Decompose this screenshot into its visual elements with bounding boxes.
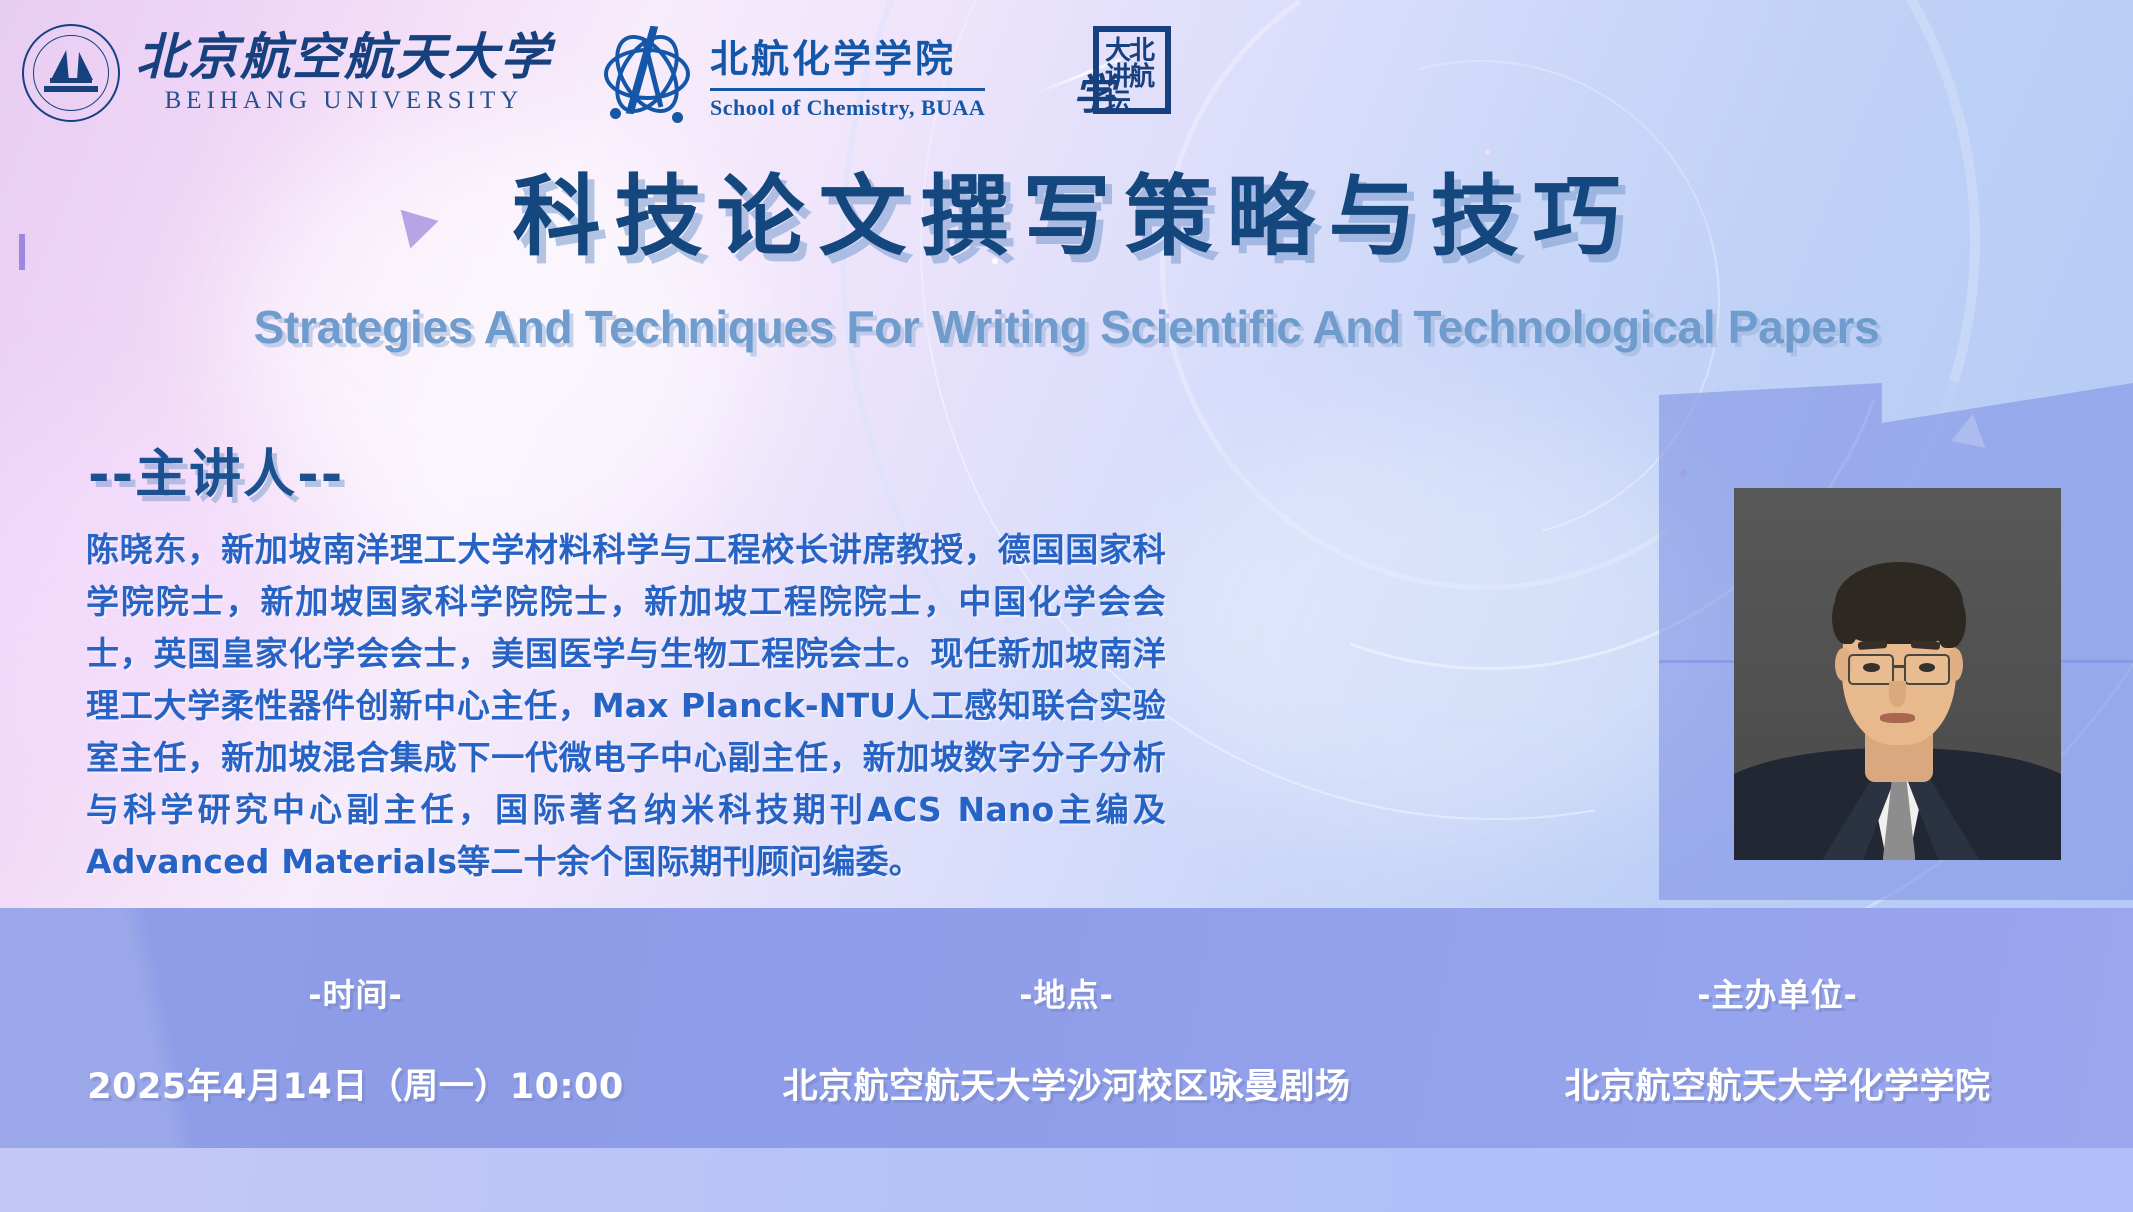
info-column-time: -时间- 2025年4月14日（周一）10:00 [0,908,711,1148]
info-label-organizer: -主办单位- [1422,970,2133,1016]
speaker-bio-text: 陈晓东，新加坡南洋理工大学材料科学与工程校长讲席教授，德国国家科学院院士，新加坡… [86,524,1166,888]
chemistry-atom-icon [600,24,696,124]
info-label-time: -时间- [0,970,711,1016]
info-value-organizer: 北京航空航天大学化学学院 [1422,1058,2133,1109]
info-value-location: 北京航空航天大学沙河校区咏曼剧场 [711,1058,1422,1109]
info-label-location: -地点- [711,970,1422,1016]
info-columns: -时间- 2025年4月14日（周一）10:00 -地点- 北京航空航天大学沙河… [0,908,2133,1148]
logo-shahe-forum-stamp: 大北讲航坛 学 [1073,26,1171,118]
logo-chemistry-cn: 北航化学学院 [710,28,985,83]
logo-chemistry-en: School of Chemistry, BUAA [710,95,985,121]
stamp-brush-text: 学 [1073,74,1115,116]
logo-beihang-cn: 北京航空航天大学 [136,31,552,84]
info-column-location: -地点- 北京航空航天大学沙河校区咏曼剧场 [711,908,1422,1148]
speaker-portrait [1734,488,2061,860]
page-subtitle: Strategies And Techniques For Writing Sc… [0,300,2133,354]
logo-chemistry-divider [710,88,985,91]
beihang-seal-icon [22,24,120,122]
info-value-time: 2025年4月14日（周一）10:00 [0,1058,711,1109]
logo-beihang-university: 北京航空航天大学 BEIHANG UNIVERSITY [22,24,552,122]
logo-school-of-chemistry: 北航化学学院 School of Chemistry, BUAA [600,24,985,124]
page-title: 科技论文撰写策略与技巧 [0,146,2133,273]
logo-beihang-en: BEIHANG UNIVERSITY [136,87,552,115]
info-band-strip [0,1148,2133,1212]
poster-canvas: 北京航空航天大学 BEIHANG UNIVERSITY 北航化学学院 Schoo… [0,0,2133,1212]
info-column-organizer: -主办单位- 北京航空航天大学化学学院 [1422,908,2133,1148]
logo-bar: 北京航空航天大学 BEIHANG UNIVERSITY 北航化学学院 Schoo… [0,0,2133,146]
seal-stamp-icon: 大北讲航坛 学 [1073,26,1171,118]
speaker-section-heading: --主讲人-- [88,432,344,507]
